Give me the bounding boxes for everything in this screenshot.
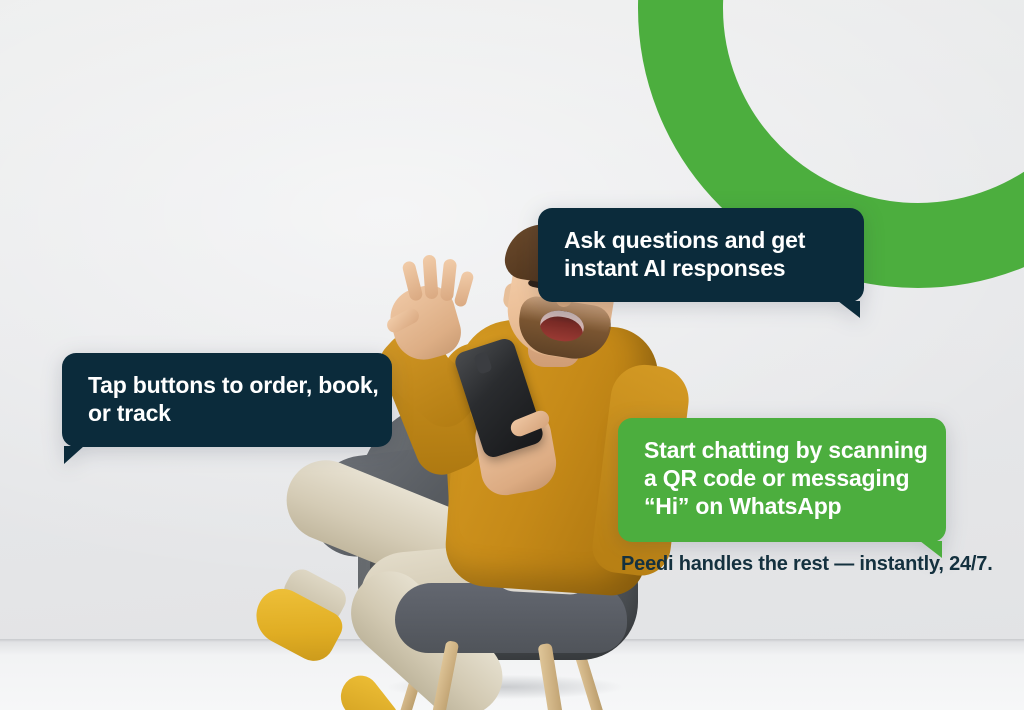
hand-finger [453, 270, 474, 308]
bubble-tail [838, 301, 860, 318]
hand-finger [422, 255, 438, 300]
caption-text: Peedi handles the rest — instantly, 24/7… [621, 553, 993, 576]
bubble-line: or track [88, 399, 366, 427]
bubble-tail [64, 446, 84, 464]
bubble-line: Tap buttons to order, book, [88, 371, 366, 399]
hand-finger [440, 258, 457, 301]
floor-shadow [340, 670, 670, 704]
bubble-line: “Hi” on WhatsApp [644, 492, 920, 520]
bubble-line: instant AI responses [564, 254, 838, 282]
bubble-line: Ask questions and get [564, 226, 838, 254]
bubble-line: a QR code or messaging [644, 464, 920, 492]
speech-bubble-start-chatting: Start chatting by scanning a QR code or … [618, 418, 946, 542]
promo-banner: Ask questions and get instant AI respons… [0, 0, 1024, 710]
speech-bubble-tap-buttons: Tap buttons to order, book, or track [62, 353, 392, 447]
bubble-line: Start chatting by scanning [644, 436, 920, 464]
speech-bubble-ask-questions: Ask questions and get instant AI respons… [538, 208, 864, 302]
